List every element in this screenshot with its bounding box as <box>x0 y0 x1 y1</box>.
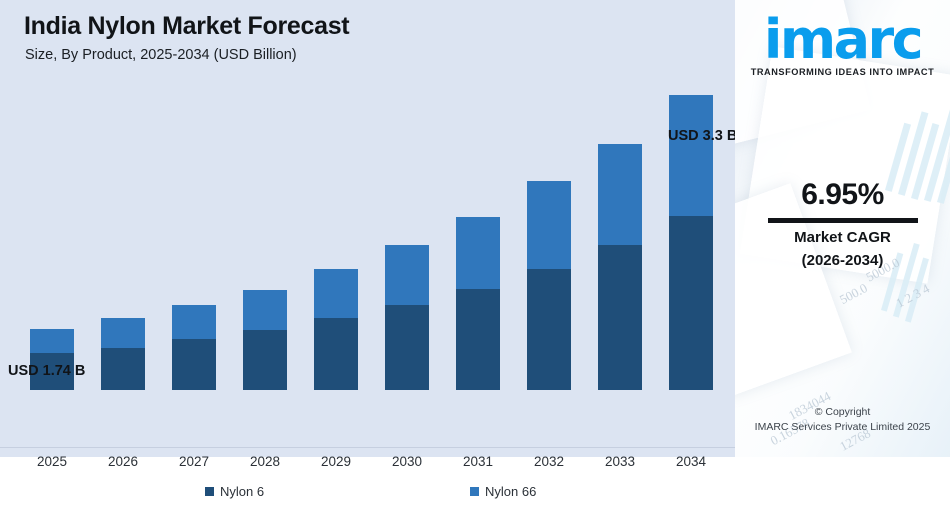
x-axis-label-2025: 2025 <box>17 454 87 469</box>
bar-segment-nylon66-2031 <box>456 217 500 289</box>
legend-swatch-icon <box>205 487 214 496</box>
x-axis-label-2032: 2032 <box>514 454 584 469</box>
copyright-symbol-line: © Copyright <box>735 406 950 418</box>
cagr-divider-rule <box>768 218 918 223</box>
bar-segment-nylon66-2028 <box>243 290 287 330</box>
chart-legend: Nylon 6Nylon 66 <box>0 484 735 508</box>
bar-segment-nylon6-2033 <box>598 245 642 390</box>
imarc-logo-wordmark: imarc <box>735 14 950 65</box>
x-axis-label-2030: 2030 <box>372 454 442 469</box>
callout-first-value: USD 1.74 B <box>8 363 85 379</box>
x-axis-label-2029: 2029 <box>301 454 371 469</box>
bar-segment-nylon66-2026 <box>101 318 145 348</box>
bar-segment-nylon66-2030 <box>385 245 429 305</box>
bar-segment-nylon66-2025 <box>30 329 74 353</box>
bar-segment-nylon6-2026 <box>101 348 145 390</box>
legend-swatch-icon <box>470 487 479 496</box>
imarc-logo-tagline: TRANSFORMING IDEAS INTO IMPACT <box>735 67 950 77</box>
bar-2033 <box>598 144 642 390</box>
x-axis-label-2026: 2026 <box>88 454 158 469</box>
cagr-period: (2026-2034) <box>735 252 950 269</box>
bar-segment-nylon66-2034 <box>669 95 713 216</box>
bar-segment-nylon6-2029 <box>314 318 358 390</box>
page-title: India Nylon Market Forecast <box>24 12 349 41</box>
bar-2028 <box>243 290 287 390</box>
bar-segment-nylon6-2031 <box>456 289 500 390</box>
imarc-logo: imarc TRANSFORMING IDEAS INTO IMPACT <box>735 14 950 77</box>
bar-segment-nylon6-2030 <box>385 305 429 390</box>
copyright-entity-line: IMARC Services Private Limited 2025 <box>735 421 950 433</box>
bar-segment-nylon66-2027 <box>172 305 216 339</box>
legend-label: Nylon 6 <box>220 484 264 499</box>
bar-2030 <box>385 245 429 390</box>
bar-segment-nylon66-2032 <box>527 181 571 269</box>
bar-segment-nylon6-2027 <box>172 339 216 390</box>
cagr-label: Market CAGR <box>735 229 950 246</box>
bar-segment-nylon6-2032 <box>527 269 571 390</box>
chart-image: India Nylon Market Forecast Size, By Pro… <box>0 0 950 457</box>
x-axis-tick-labels: 2025202620272028202920302031203220332034 <box>0 454 735 478</box>
legend-label: Nylon 66 <box>485 484 536 499</box>
bar-segment-nylon6-2034 <box>669 216 713 390</box>
bar-2025 <box>30 329 74 390</box>
x-axis-label-2031: 2031 <box>443 454 513 469</box>
x-axis-label-2027: 2027 <box>159 454 229 469</box>
bar-2029 <box>314 269 358 390</box>
bar-2032 <box>527 181 571 390</box>
bar-segment-nylon66-2029 <box>314 269 358 318</box>
x-axis-label-2034: 2034 <box>656 454 726 469</box>
chart-panel: India Nylon Market Forecast Size, By Pro… <box>0 0 735 457</box>
legend-item-nylon-6[interactable]: Nylon 6 <box>205 484 264 499</box>
bar-segment-nylon66-2033 <box>598 144 642 245</box>
legend-item-nylon-66[interactable]: Nylon 66 <box>470 484 536 499</box>
bar-2026 <box>101 318 145 390</box>
callout-last-value: USD 3.3 B <box>668 128 737 144</box>
cagr-value: 6.95% <box>735 178 950 212</box>
bar-2031 <box>456 217 500 390</box>
x-axis-label-2033: 2033 <box>585 454 655 469</box>
plot-area: USD 1.74 B USD 3.3 B 2025202620272028202… <box>0 60 735 390</box>
x-axis-label-2028: 2028 <box>230 454 300 469</box>
bar-segment-nylon6-2028 <box>243 330 287 390</box>
axis-baseline <box>0 447 735 448</box>
brand-panel: 500.0 5000.0 1 2 3 4 1834044 0.16578 127… <box>735 0 950 457</box>
bar-2027 <box>172 305 216 390</box>
